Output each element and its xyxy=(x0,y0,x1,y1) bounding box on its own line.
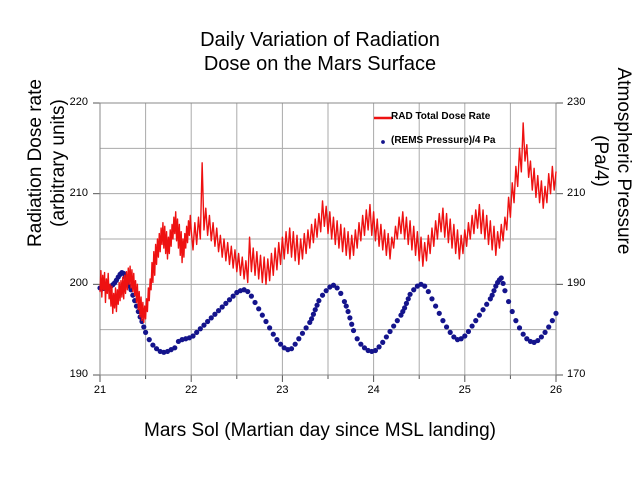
y-left-tick-label-2: 210 xyxy=(54,187,88,199)
x-tick-label-3: 24 xyxy=(354,384,394,396)
x-tick-label-4: 25 xyxy=(445,384,485,396)
y-right-tick-label-1: 190 xyxy=(567,277,601,289)
legend-item-1-label: (REMS Pressure)/4 Pa xyxy=(391,135,496,146)
y-right-tick-label-2: 210 xyxy=(567,187,601,199)
y-left-tick-label-0: 190 xyxy=(54,368,88,380)
legend-item-0-label: RAD Total Dose Rate xyxy=(391,111,490,122)
chart-figure: Daily Variation of Radiation Dose on the… xyxy=(0,0,640,478)
plot-area xyxy=(0,0,640,478)
y-left-tick-label-1: 200 xyxy=(54,277,88,289)
x-tick-label-2: 23 xyxy=(262,384,302,396)
x-tick-label-5: 26 xyxy=(536,384,576,396)
y-right-tick-label-3: 230 xyxy=(567,96,601,108)
y-left-tick-label-3: 220 xyxy=(54,96,88,108)
legend-markers xyxy=(374,118,392,144)
x-tick-label-0: 21 xyxy=(80,384,120,396)
y-right-tick-label-0: 170 xyxy=(567,368,601,380)
x-tick-label-1: 22 xyxy=(171,384,211,396)
